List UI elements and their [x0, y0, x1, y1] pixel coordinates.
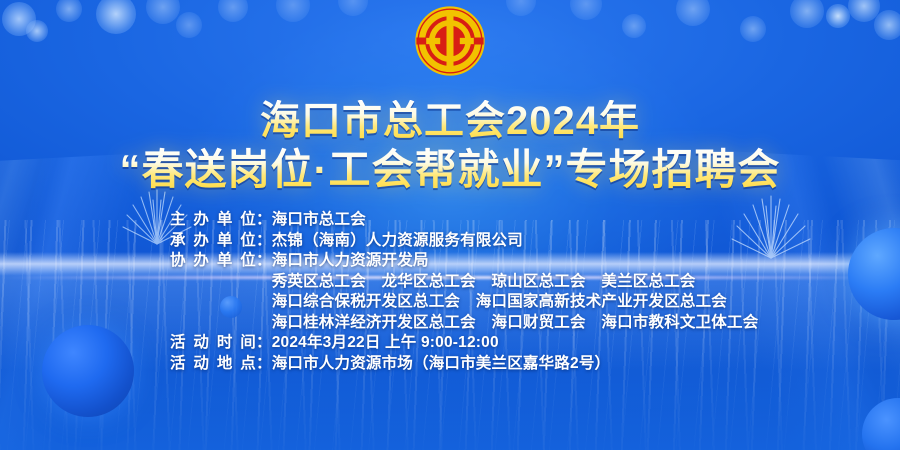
event-info-label: 协办单位 [170, 251, 256, 272]
event-info-colon: ： [256, 333, 272, 354]
event-info-value: 海口市总工会 [272, 210, 730, 231]
event-info-label: 活动时间 [170, 333, 256, 354]
poster-title-line-1: 海口市总工会2024年 [0, 100, 900, 143]
event-info-label: 活动地点 [170, 354, 256, 375]
event-info-colon: ： [256, 354, 272, 375]
event-info-row: 协办单位：海口市人力资源开发局 [170, 251, 730, 272]
event-info-row: 活动地点：海口市人力资源市场（海口市美兰区嘉华路2号） [170, 354, 730, 375]
event-info-row: 承办单位：杰锦（海南）人力资源服务有限公司 [170, 231, 730, 252]
event-info-value: 秀英区总工会 龙华区总工会 琼山区总工会 美兰区总工会 [272, 272, 730, 293]
event-info-row: 主办单位：海口综合保税开发区总工会 海口国家高新技术产业开发区总工会 [170, 292, 730, 313]
event-info-block: 主办单位：海口市总工会承办单位：杰锦（海南）人力资源服务有限公司协办单位：海口市… [0, 210, 900, 374]
trade-union-emblem-icon [415, 6, 485, 76]
event-info-label: 主办单位 [170, 210, 256, 231]
recruitment-poster: 海口市总工会2024年 “春送岗位·工会帮就业”专场招聘会 主办单位：海口市总工… [0, 0, 900, 450]
event-info-value: 海口市人力资源开发局 [272, 251, 730, 272]
event-info-row: 主办单位：秀英区总工会 龙华区总工会 琼山区总工会 美兰区总工会 [170, 272, 730, 293]
event-info-value: 海口市人力资源市场（海口市美兰区嘉华路2号） [272, 354, 730, 375]
event-info-colon: ： [256, 251, 272, 272]
event-info-colon: ： [256, 231, 272, 252]
event-info-value: 杰锦（海南）人力资源服务有限公司 [272, 231, 730, 252]
event-info-label: 承办单位 [170, 231, 256, 252]
event-info-value: 海口桂林洋经济开发区总工会 海口财贸工会 海口市教科文卫体工会 [272, 313, 759, 334]
emblem-container [0, 6, 900, 76]
title-block: 海口市总工会2024年 “春送岗位·工会帮就业”专场招聘会 [0, 100, 900, 193]
event-info-colon: ： [256, 210, 272, 231]
event-info-row: 主办单位：海口桂林洋经济开发区总工会 海口财贸工会 海口市教科文卫体工会 [170, 313, 730, 334]
event-info-value: 海口综合保税开发区总工会 海口国家高新技术产业开发区总工会 [272, 292, 730, 313]
event-info-row: 活动时间：2024年3月22日 上午 9:00-12:00 [170, 333, 730, 354]
poster-title-line-2: “春送岗位·工会帮就业”专场招聘会 [0, 147, 900, 192]
event-info-value: 2024年3月22日 上午 9:00-12:00 [272, 333, 730, 354]
event-info-row: 主办单位：海口市总工会 [170, 210, 730, 231]
